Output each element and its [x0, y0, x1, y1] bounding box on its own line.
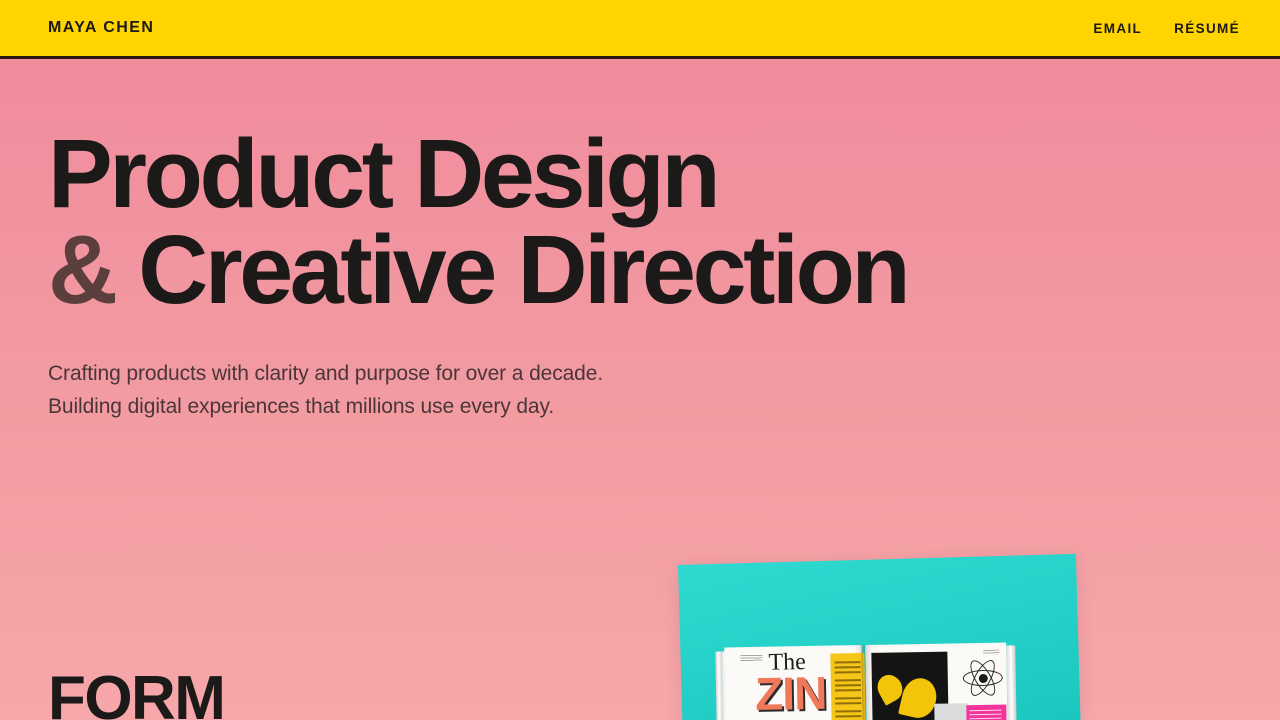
zine-photo: The ZIN: [660, 550, 1100, 720]
left-page-title: ZIN: [755, 670, 827, 717]
ampersand-glyph: &: [48, 215, 115, 324]
page-edge-right: [1006, 645, 1016, 720]
hero-section: Product Design & Creative Direction Craf…: [48, 126, 1148, 423]
hero-subtitle-line-1: Crafting products with clarity and purpo…: [48, 362, 603, 385]
brand-logo[interactable]: MAYA CHEN: [48, 19, 154, 37]
nav-link-email[interactable]: EMAIL: [1093, 21, 1142, 36]
hero-headline-line-2: & Creative Direction: [48, 222, 1148, 318]
portfolio-landing-page: MAYA CHEN EMAIL RÉSUMÉ Product Design & …: [0, 0, 1280, 720]
right-page-gray-block: [934, 703, 968, 720]
atom-diagram-icon: [961, 657, 1004, 700]
main-navigation: EMAIL RÉSUMÉ: [1093, 21, 1240, 36]
left-page-yellow-sidebar: [830, 653, 865, 720]
right-page-corner-text: [983, 650, 999, 655]
magazine-left-page: The ZIN: [724, 645, 864, 720]
hero-subtitle-line-2: Building digital experiences that millio…: [48, 395, 554, 418]
open-magazine: The ZIN: [715, 642, 1017, 720]
hero-subtitle: Crafting products with clarity and purpo…: [48, 358, 1148, 423]
site-header: MAYA CHEN EMAIL RÉSUMÉ: [0, 0, 1280, 59]
hero-headline-line-2-text: Creative Direction: [138, 215, 907, 324]
section-heading-form: FORM: [48, 668, 224, 720]
hero-headline-line-1: Product Design: [48, 126, 1148, 222]
right-page-pink-sticky: [966, 705, 1006, 720]
left-page-micro-text: [740, 655, 762, 661]
nav-link-resume[interactable]: RÉSUMÉ: [1174, 21, 1240, 36]
